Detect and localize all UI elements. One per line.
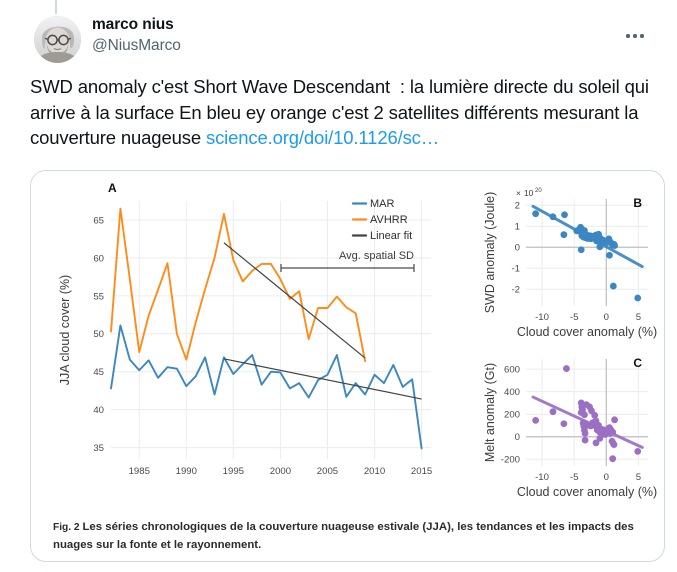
figure-image: 3540455055606519851990199520002005201020… <box>31 171 665 516</box>
dot <box>633 34 636 37</box>
tweet-page: marco nius @NiusMarco SWD anomaly c'est … <box>0 0 677 572</box>
x-tick-label: 0 <box>604 312 609 323</box>
dot <box>640 34 643 37</box>
handle: @NiusMarco <box>92 35 181 57</box>
x-tick-label: -10 <box>535 312 549 323</box>
more-horizontal-icon[interactable] <box>618 26 652 46</box>
tweet-text: SWD anomaly c'est Short Wave Descendant … <box>30 74 655 151</box>
scatter-point <box>563 365 570 372</box>
scatter-point <box>609 455 616 462</box>
scatter-point <box>560 231 567 238</box>
axis-label-x: Cloud cover anomaly (%) <box>517 485 657 499</box>
panel-letter: C <box>633 356 642 370</box>
exponent-base: 10 <box>524 188 534 198</box>
y-tick-label: -1 <box>511 264 520 275</box>
scatter-point <box>550 408 557 415</box>
panel-letter: B <box>633 196 642 210</box>
y-tick-label-a: 40 <box>93 405 104 416</box>
x-tick-label: 5 <box>636 312 641 323</box>
axis-label-y: Melt anomaly (Gt) <box>483 363 497 462</box>
y-tick-label: 400 <box>504 387 520 398</box>
x-tick-label-a: 2010 <box>364 466 385 477</box>
thread-line <box>55 0 57 14</box>
axis-label-y: SWD anomaly (Joule) <box>483 192 497 314</box>
tweet-link[interactable]: science.org/doi/10.1126/sc… <box>206 127 439 148</box>
exponent-power: 20 <box>535 188 542 194</box>
x-tick-label-a: 2000 <box>270 466 291 477</box>
scatter-point <box>560 420 567 427</box>
x-tick-label: 5 <box>636 472 641 483</box>
y-tick-label: -200 <box>501 455 520 466</box>
y-tick-label-a: 45 <box>93 367 104 378</box>
display-name: marco nius <box>92 14 181 35</box>
legend-label-avhrr: AVHRR <box>370 214 408 226</box>
y-tick-label: 0 <box>515 243 520 254</box>
scatter-point <box>532 417 539 424</box>
figure-number: Fig. 2 <box>53 522 82 533</box>
scatter-point <box>591 412 598 419</box>
scatter-point <box>532 210 539 217</box>
panel-b-group <box>526 199 648 306</box>
scatter-point <box>611 416 618 423</box>
scatter-point <box>582 437 589 444</box>
scatter-point <box>610 283 617 290</box>
y-tick-label-a: 65 <box>93 215 104 226</box>
scatter-point <box>582 430 589 437</box>
y-tick-label: 600 <box>504 364 520 375</box>
exponent-multiplier: × <box>516 188 521 198</box>
x-tick-label: -5 <box>570 472 579 483</box>
legend-label-linear-fit: Linear fit <box>370 230 412 242</box>
dot <box>626 34 629 37</box>
axis-label-y-a: JJA cloud cover (%) <box>58 275 72 385</box>
scatter-point <box>611 441 618 448</box>
panel-letter-a: A <box>108 181 117 195</box>
y-tick-label: -2 <box>511 285 520 296</box>
scatter-point <box>596 435 603 442</box>
x-tick-label: 0 <box>604 472 609 483</box>
x-tick-label: -5 <box>570 312 579 323</box>
x-tick-label-a: 1995 <box>223 466 244 477</box>
tweet-header: marco nius @NiusMarco <box>20 14 660 66</box>
y-tick-label: 200 <box>504 409 520 420</box>
y-tick-label: 0 <box>515 432 520 443</box>
y-tick-label-a: 55 <box>93 291 104 302</box>
x-tick-label-a: 2015 <box>411 466 432 477</box>
scatter-point <box>550 213 557 220</box>
scatter-point <box>581 411 588 418</box>
x-tick-label-a: 2005 <box>317 466 338 477</box>
sd-label: Avg. spatial SD <box>339 250 414 262</box>
y-tick-label-a: 50 <box>93 329 104 340</box>
scatter-point <box>578 246 585 253</box>
y-tick-label-a: 60 <box>93 253 104 264</box>
y-tick-label: 2 <box>515 201 520 212</box>
avatar[interactable] <box>34 16 81 63</box>
x-tick-label-a: 1985 <box>129 466 150 477</box>
scatter-point <box>611 242 618 249</box>
trendline-mar <box>224 359 422 399</box>
scatter-point <box>561 211 568 218</box>
x-tick-label-a: 1990 <box>176 466 197 477</box>
figure-caption: Fig. 2 Les séries chronologiques de la c… <box>53 519 643 553</box>
scatter-point <box>634 448 641 455</box>
scatter-point <box>606 252 613 259</box>
media-card[interactable]: 3540455055606519851990199520002005201020… <box>30 170 665 562</box>
panel-c-group <box>526 359 648 466</box>
figure-caption-text: Les séries chronologiques de la couvertu… <box>53 521 634 551</box>
author-name-block[interactable]: marco nius @NiusMarco <box>92 14 181 57</box>
x-tick-label: -10 <box>535 472 549 483</box>
legend-label-mar: MAR <box>370 198 395 210</box>
scatter-point <box>609 429 616 436</box>
axis-label-x: Cloud cover anomaly (%) <box>517 325 657 339</box>
y-tick-label-a: 35 <box>93 443 104 454</box>
y-tick-label: 1 <box>515 222 520 233</box>
scatter-point <box>634 295 641 302</box>
